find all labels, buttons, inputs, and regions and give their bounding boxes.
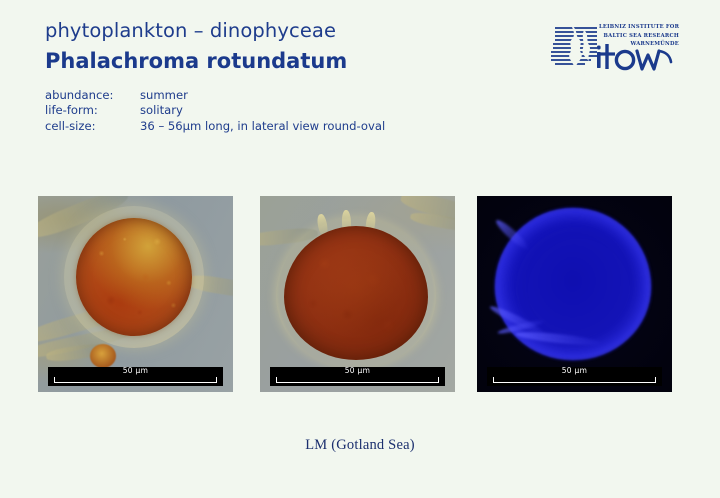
scale-bar-label: 50 µm <box>54 367 217 375</box>
metadata-value-life-form: solitary <box>140 103 385 118</box>
micrograph-background-2 <box>260 196 455 392</box>
micrograph-panel-2: 50 µm <box>260 196 455 392</box>
scale-bar-1: 50 µm <box>48 367 223 386</box>
iow-logo: Leibniz Institute for Baltic Sea Researc… <box>551 22 679 74</box>
metadata-row-abundance: abundance: summer <box>45 88 385 103</box>
cell-satellite-particle <box>90 344 116 368</box>
scale-bar-3: 50 µm <box>487 367 662 386</box>
logo-institute-line-1: Leibniz Institute for <box>599 23 679 32</box>
species-name: Phalachroma rotundatum <box>45 50 525 73</box>
scale-bar-rule <box>276 377 439 383</box>
scale-bar-inner: 50 µm <box>276 370 439 383</box>
metadata-label-life-form: life-form: <box>45 103 140 118</box>
logo-institute-line-3: Warnemünde <box>599 40 679 49</box>
cell-chloroplast-texture <box>76 218 192 336</box>
scale-bar-label: 50 µm <box>276 367 439 375</box>
species-metadata-block: abundance: summer life-form: solitary ce… <box>45 88 385 134</box>
taxonomic-group-line: phytoplankton – dinophyceae <box>45 20 525 42</box>
metadata-row-life-form: life-form: solitary <box>45 103 385 118</box>
scale-bar-inner: 50 µm <box>493 370 656 383</box>
metadata-row-cell-size: cell-size: 36 – 56µm long, in lateral vi… <box>45 119 385 134</box>
figure-caption: LM (Gotland Sea) <box>0 437 720 454</box>
micrograph-background-1 <box>38 196 233 392</box>
logo-institute-text: Leibniz Institute for Baltic Sea Researc… <box>599 23 679 49</box>
micrograph-background-3 <box>477 196 672 392</box>
cell-chloroplast-texture <box>284 226 428 360</box>
micrograph-panel-row: 50 µm 50 µm <box>38 196 668 392</box>
micrograph-panel-3: 50 µm <box>477 196 672 392</box>
scale-bar-label: 50 µm <box>493 367 656 375</box>
metadata-label-abundance: abundance: <box>45 88 140 103</box>
metadata-value-abundance: summer <box>140 88 385 103</box>
scale-bar-inner: 50 µm <box>54 370 217 383</box>
scale-bar-rule <box>493 377 656 383</box>
metadata-label-cell-size: cell-size: <box>45 119 140 134</box>
scale-bar-rule <box>54 377 217 383</box>
metadata-value-cell-size: 36 – 56µm long, in lateral view round-ov… <box>140 119 385 134</box>
slide-header: phytoplankton – dinophyceae Phalachroma … <box>45 20 525 74</box>
scale-bar-2: 50 µm <box>270 367 445 386</box>
micrograph-panel-1: 50 µm <box>38 196 233 392</box>
logo-institute-line-2: Baltic Sea Research <box>599 32 679 41</box>
